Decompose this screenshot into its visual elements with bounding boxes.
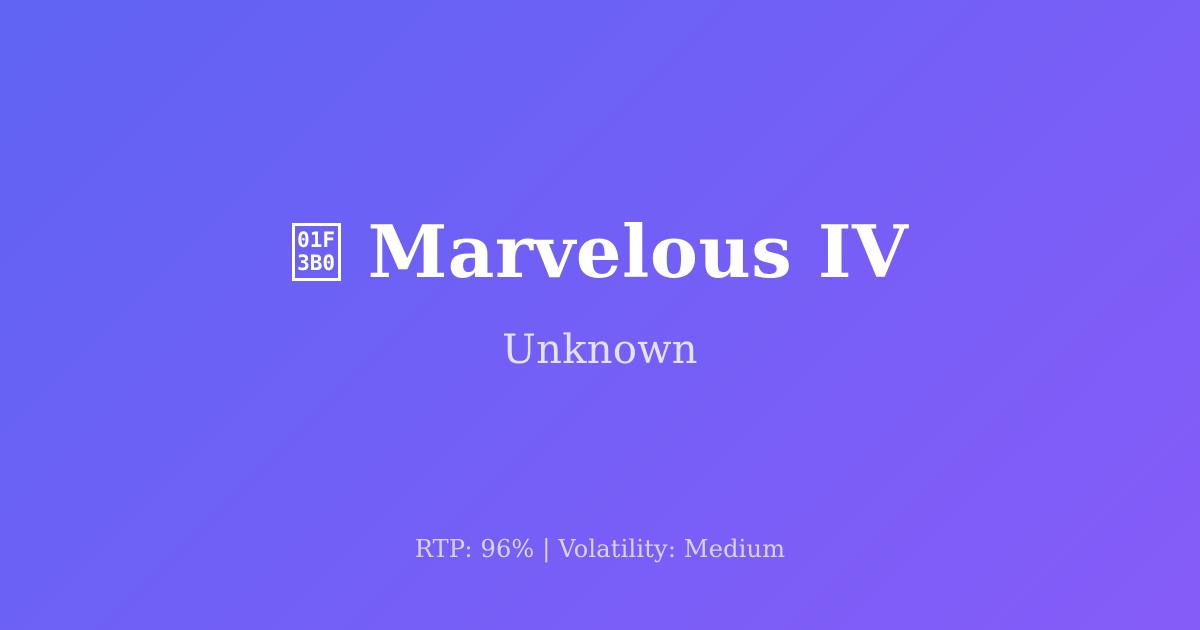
game-preview-card: 01F 3B0 Marvelous IV Unknown RTP: 96% | … [0, 0, 1200, 630]
title-row: 01F 3B0 Marvelous IV [292, 214, 909, 290]
hero-section: 01F 3B0 Marvelous IV Unknown [0, 214, 1200, 374]
tofu-line-upper: 01F [297, 229, 335, 252]
page-title: Marvelous IV [368, 214, 909, 290]
game-provider-subtitle: Unknown [502, 326, 698, 374]
slot-machine-icon-fallback-codepoint: 01F 3B0 [295, 226, 338, 278]
tofu-line-lower: 3B0 [297, 252, 335, 275]
game-stats-footer: RTP: 96% | Volatility: Medium [0, 535, 1200, 564]
slot-machine-icon: 01F 3B0 [292, 223, 341, 281]
